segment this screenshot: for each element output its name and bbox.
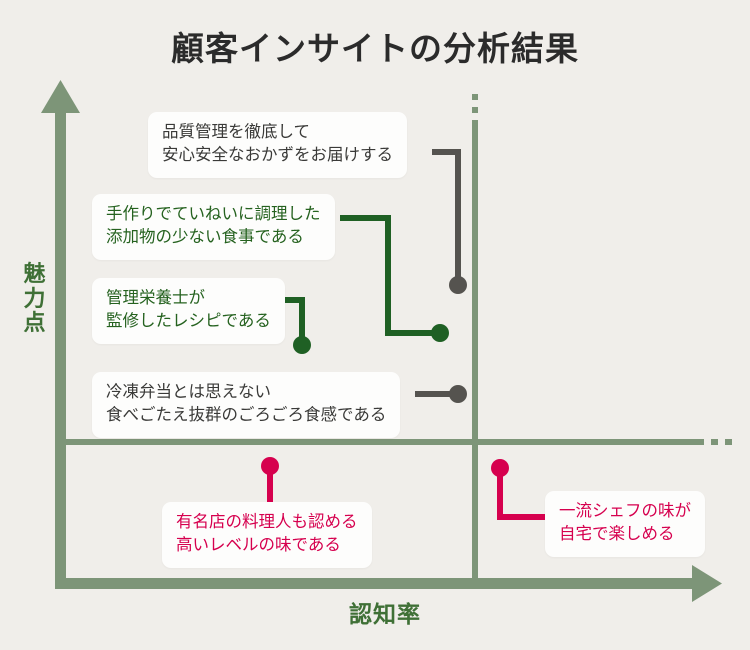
connector-quality [432, 152, 467, 294]
callout-dietitian-line1: 管理栄養士が [106, 287, 271, 310]
callout-handmade[interactable]: 手作りでていねいに調理した 添加物の少ない食事である [92, 194, 335, 260]
connector-chef-praise [261, 457, 279, 503]
callout-dietitian-line2: 監修したレシピである [106, 310, 271, 333]
callout-quality-line2: 安心安全なおかずをお届けする [162, 144, 393, 167]
callout-chef-home-line1: 一流シェフの味が [559, 500, 691, 523]
callout-texture-line1: 冷凍弁当とは思えない [106, 381, 386, 404]
connector-chef-home [491, 459, 548, 517]
callout-texture[interactable]: 冷凍弁当とは思えない 食べごたえ抜群のごろごろ食感である [92, 372, 400, 438]
callout-chef-praise-line1: 有名店の料理人も認める [176, 511, 358, 534]
point-quality [449, 276, 467, 294]
point-texture [449, 385, 467, 403]
connector-dietitian [282, 300, 311, 354]
callout-chef-home-line2: 自宅で楽しめる [559, 523, 691, 546]
point-chef-home [491, 459, 509, 477]
callout-chef-praise-line2: 高いレベルの味である [176, 534, 358, 557]
callout-handmade-line2: 添加物の少ない食事である [106, 226, 321, 249]
page-title: 顧客インサイトの分析結果 [0, 22, 750, 70]
point-chef-praise [261, 457, 279, 475]
callout-chef-home[interactable]: 一流シェフの味が 自宅で楽しめる [545, 491, 705, 557]
point-dietitian [293, 336, 311, 354]
x-axis-label: 認知率 [305, 595, 465, 629]
callout-texture-line2: 食べごたえ抜群のごろごろ食感である [106, 404, 386, 427]
connector-texture [415, 385, 467, 403]
y-axis-label: 魅力点 [18, 262, 52, 336]
callout-chef-praise[interactable]: 有名店の料理人も認める 高いレベルの味である [162, 502, 372, 568]
insight-matrix-diagram: 顧客インサイトの分析結果 [0, 0, 750, 650]
point-handmade [431, 324, 449, 342]
callout-quality-line1: 品質管理を徹底して [162, 121, 393, 144]
callout-quality[interactable]: 品質管理を徹底して 安心安全なおかずをお届けする [148, 112, 407, 178]
callout-handmade-line1: 手作りでていねいに調理した [106, 203, 321, 226]
callout-dietitian[interactable]: 管理栄養士が 監修したレシピである [92, 278, 285, 344]
connector-handmade [340, 218, 449, 342]
